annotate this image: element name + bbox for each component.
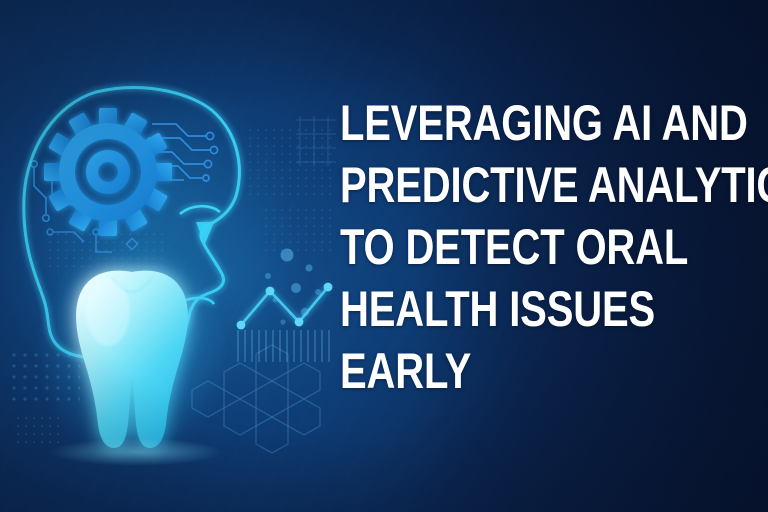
banner-graphic: LEVERAGING AI AND PREDICTIVE ANALYTICS T… <box>0 0 768 512</box>
title-line-1: LEVERAGING AI AND <box>340 92 660 154</box>
title-line-4: HEALTH ISSUES <box>340 278 660 340</box>
title-line-2: PREDICTIVE ANALYTICS <box>340 154 660 216</box>
title-line-3: TO DETECT ORAL <box>340 216 660 278</box>
banner-title: LEVERAGING AI AND PREDICTIVE ANALYTICS T… <box>340 92 740 402</box>
title-line-5: EARLY <box>340 340 660 402</box>
